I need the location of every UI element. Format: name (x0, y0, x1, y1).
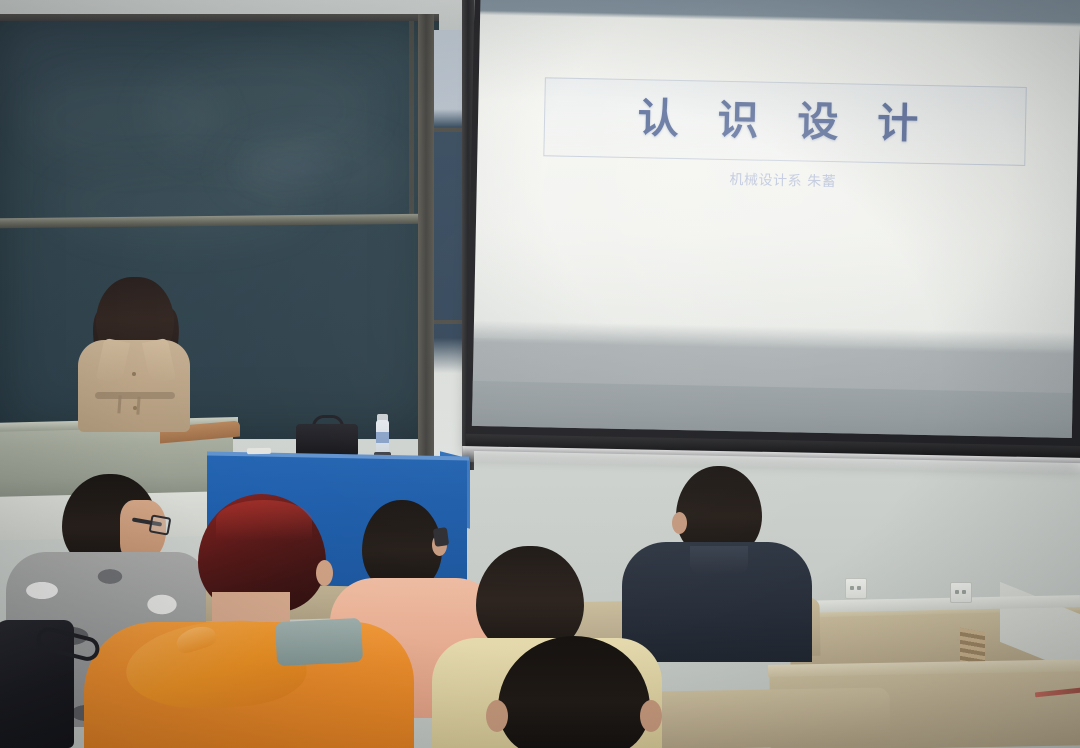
screen-vignette (472, 0, 1080, 438)
student-navy-collar (690, 546, 748, 574)
glasses-lens (149, 514, 172, 535)
lecture-hall-photo: 认 识 设 计 机械设计系 朱蓄 (0, 0, 1080, 748)
chalkboard-panel-upper (0, 21, 414, 216)
presenter-coat (78, 340, 190, 432)
grey-bag-on-desk (275, 618, 363, 666)
chalkboard-frame-top (0, 14, 439, 21)
chalkboard-divider-1 (418, 14, 434, 469)
student-navy-ear (672, 512, 687, 534)
presenter-belt-tie (117, 395, 140, 414)
red-hair-highlight (216, 500, 312, 540)
student-front-ear-right (640, 700, 662, 732)
student-red-ear (316, 560, 333, 586)
student-front-ear-left (486, 700, 508, 732)
bottle-label (376, 432, 389, 443)
outlet-icon (845, 578, 867, 599)
chalkboard-side-panel (430, 30, 464, 470)
outlet-icon (950, 582, 972, 603)
marker-on-partition (247, 448, 271, 454)
screen-icon: 认 识 设 计 机械设计系 朱蓄 (465, 0, 1080, 463)
projection-surface: 认 识 设 计 机械设计系 朱蓄 (472, 0, 1080, 438)
phone-or-earpiece (433, 527, 449, 547)
